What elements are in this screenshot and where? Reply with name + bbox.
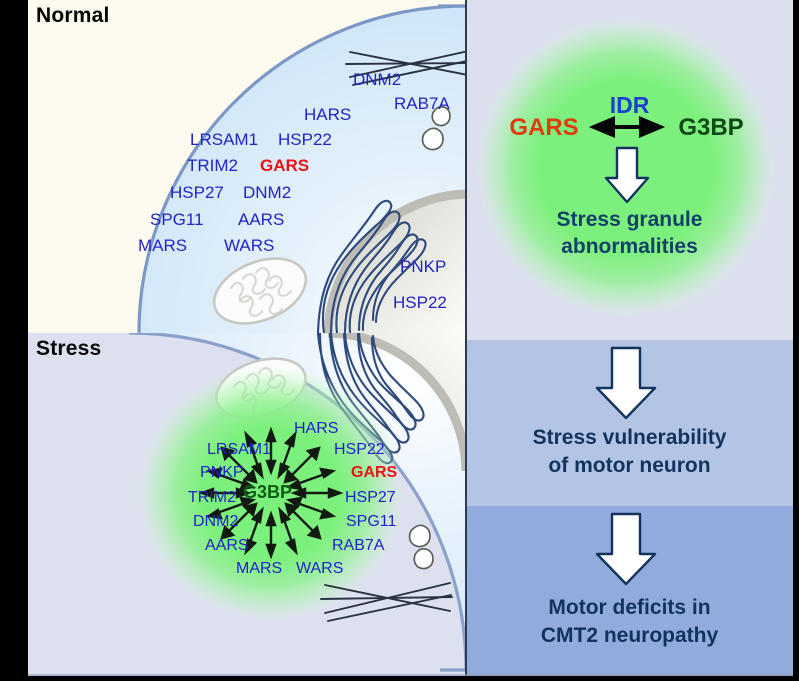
down-arrow-outline <box>597 348 655 418</box>
column-divider <box>465 0 467 676</box>
granule-protein-gars: GARS <box>351 465 397 481</box>
normal-cell-graphics <box>28 0 466 333</box>
vesicles <box>410 525 434 568</box>
panel-stress: HARS LRSAM1 HSP22 PNKP GARS TRIM2 HSP27 … <box>28 333 466 676</box>
granule-protein-mars: MARS <box>236 561 282 577</box>
panel-idr: IDR GARS G3BP Stress granule abnormaliti… <box>466 0 793 340</box>
protein-spg11: SPG11 <box>150 211 204 228</box>
panel-normal: DNM2 RAB7A HARS LRSAM1 HSP22 TRIM2 GARS … <box>28 0 466 333</box>
vulnerability-line2: of motor neuron <box>466 454 793 478</box>
protein-mars: MARS <box>138 237 187 254</box>
figure-frame: DNM2 RAB7A HARS LRSAM1 HSP22 TRIM2 GARS … <box>28 0 793 676</box>
granule-protein-lrsam1: LRSAM1 <box>207 442 271 458</box>
protein-hsp27: HSP27 <box>170 184 224 201</box>
figure-root: DNM2 RAB7A HARS LRSAM1 HSP22 TRIM2 GARS … <box>0 0 799 681</box>
protein-aars: AARS <box>238 211 284 228</box>
label-vesicle-rab7a: RAB7A <box>394 95 450 112</box>
granule-protein-spg11: SPG11 <box>346 514 396 530</box>
granule-protein-aars: AARS <box>205 538 249 554</box>
granule-protein-wars: WARS <box>296 561 343 577</box>
stress-granule-outcome-line1: Stress granule <box>466 208 793 232</box>
protein-lrsam1: LRSAM1 <box>190 131 258 148</box>
motor-arrow-graphics <box>466 506 793 676</box>
granule-protein-hsp22: HSP22 <box>334 442 385 458</box>
panel-title-normal: Normal <box>36 4 110 28</box>
vesicle-2 <box>414 549 433 569</box>
panel-title-stress: Stress <box>36 337 101 361</box>
label-nucleus-pnkp: PNKP <box>400 258 446 275</box>
protein-hars: HARS <box>304 106 351 123</box>
motor-line1: Motor deficits in <box>466 596 793 620</box>
vesicle-1 <box>410 525 431 546</box>
protein-trim2: TRIM2 <box>187 157 238 174</box>
stress-granule-outcome-line2: abnormalities <box>466 235 793 259</box>
figure-bottom-rule <box>28 674 793 676</box>
protein-dnm2: DNM2 <box>243 184 291 201</box>
idr-g3bp-label: G3BP <box>661 114 761 142</box>
panel-motor-deficits: Motor deficits in CMT2 neuropathy <box>466 506 793 676</box>
granule-protein-trim2: TRIM2 <box>188 490 236 506</box>
granule-protein-hars: HARS <box>294 421 338 437</box>
protein-hsp22: HSP22 <box>278 131 332 148</box>
vesicle-2 <box>423 128 444 149</box>
down-arrow-outline <box>597 514 655 584</box>
motor-line2: CMT2 neuropathy <box>466 624 793 648</box>
granule-hub-g3bp: G3BP <box>243 483 292 501</box>
vulnerability-arrow-graphics <box>466 340 793 506</box>
idr-gars-label: GARS <box>494 114 594 142</box>
vulnerability-line1: Stress vulnerability <box>466 426 793 450</box>
granule-protein-hsp27: HSP27 <box>345 490 396 506</box>
panel-stress-vulnerability: Stress vulnerability of motor neuron <box>466 340 793 506</box>
protein-gars: GARS <box>260 157 309 174</box>
granule-protein-rab7a: RAB7A <box>332 538 384 554</box>
label-nucleus-hsp22: HSP22 <box>393 294 447 311</box>
stress-cell-graphics <box>28 333 466 676</box>
label-microtubule-dnm2: DNM2 <box>353 71 401 88</box>
granule-protein-dnm2: DNM2 <box>193 514 238 530</box>
protein-wars: WARS <box>224 237 274 254</box>
idr-graphics <box>466 0 793 340</box>
granule-protein-pnkp: PNKP <box>200 465 244 481</box>
